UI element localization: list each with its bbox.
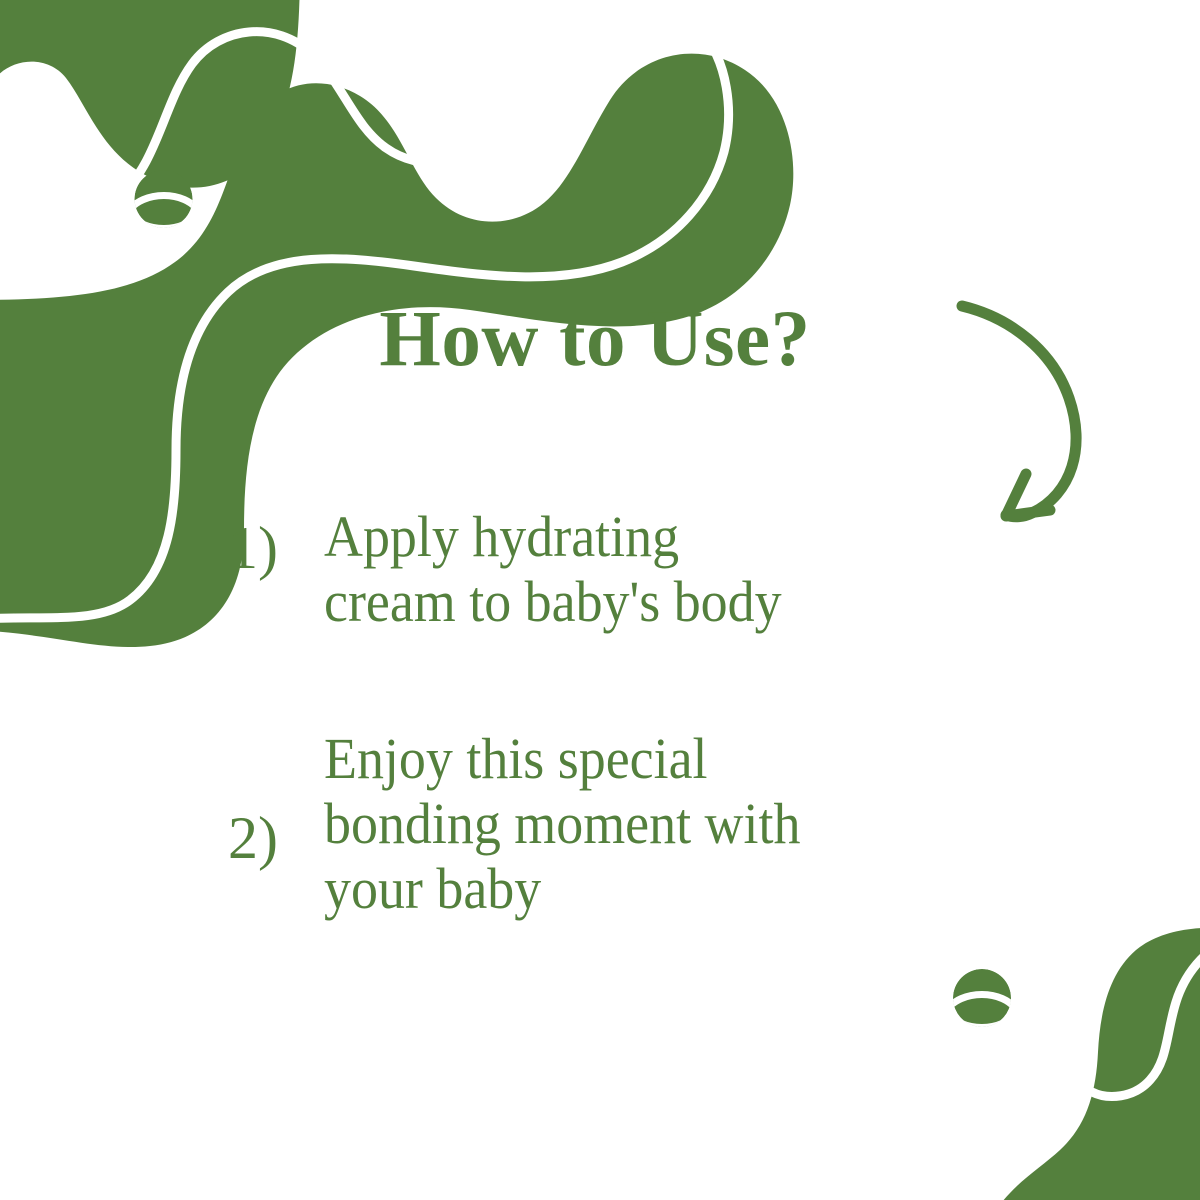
seed-circle-icon-bottom xyxy=(946,969,1017,1028)
step-number: 1) xyxy=(228,505,324,582)
step-text: Enjoy this special bonding moment with y… xyxy=(324,727,942,922)
list-item: 2) Enjoy this special bonding moment wit… xyxy=(228,727,988,922)
page-title: How to Use? xyxy=(210,300,980,379)
step-text: Apply hydrating cream to baby's body xyxy=(324,505,942,635)
seed-circle-icon-top xyxy=(128,170,199,229)
bottom-right-blob xyxy=(980,928,1200,1200)
step-number: 2) xyxy=(228,727,324,872)
poster-canvas: How to Use? 1) Apply hydrating cream to … xyxy=(0,0,1200,1200)
steps-list: 1) Apply hydrating cream to baby's body … xyxy=(228,505,988,922)
list-item: 1) Apply hydrating cream to baby's body xyxy=(228,505,988,635)
